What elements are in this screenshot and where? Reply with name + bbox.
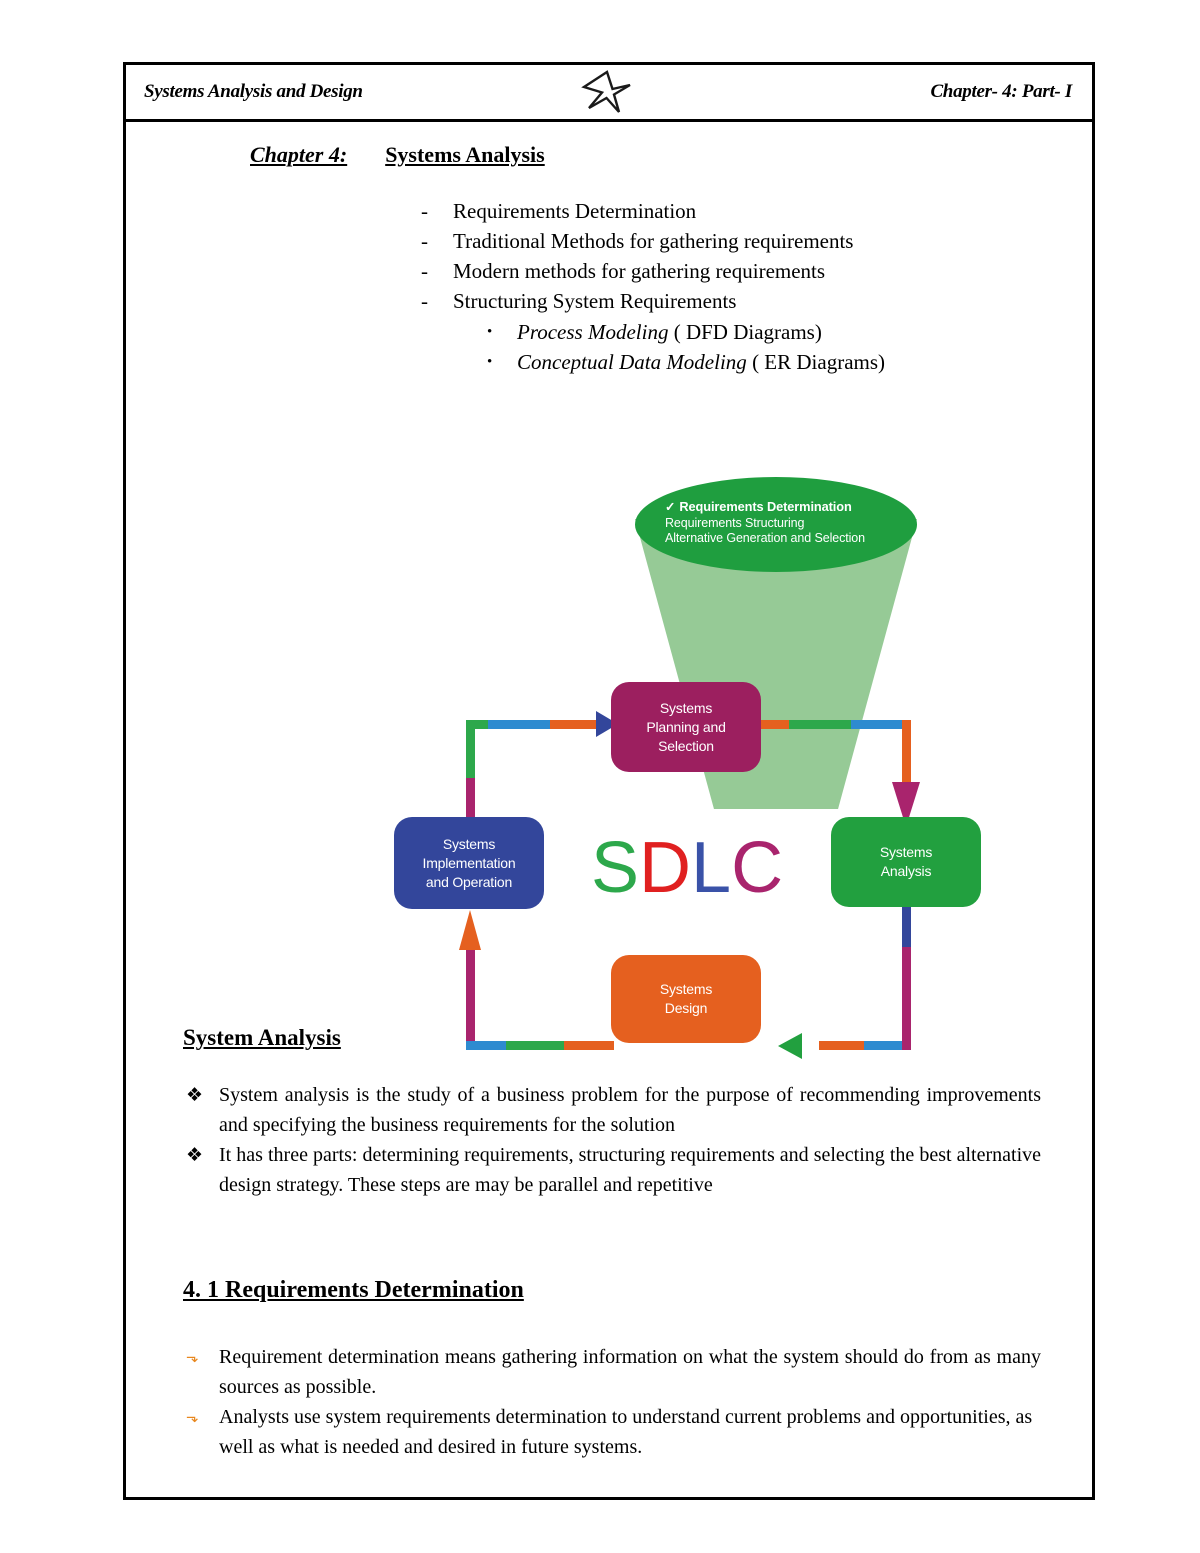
topic-label: Modern methods for gathering requirement… [453, 256, 825, 286]
chapter-label: Chapter 4: [250, 142, 347, 167]
diamond-bullet-icon: ❖ [186, 1140, 219, 1200]
arrow-bullet-icon: ⬎ [186, 1342, 219, 1402]
list-item: - Modern methods for gathering requireme… [421, 256, 1021, 286]
connector-segment [466, 778, 475, 820]
subtopic-italic: Process Modeling [517, 320, 668, 344]
list-item: • Process Modeling ( DFD Diagrams) [487, 317, 1021, 347]
node-systems-planning-and-selection[interactable]: SystemsPlanning andSelection [611, 682, 761, 772]
arrow-bullet-icon: ⬎ [186, 1402, 219, 1462]
list-item-text: Requirement determination means gatherin… [219, 1342, 1041, 1402]
connector-segment [564, 1041, 614, 1050]
list-item: ❖ System analysis is the study of a busi… [186, 1080, 1041, 1140]
list-item-text: Analysts use system requirements determi… [219, 1402, 1041, 1462]
funnel-label-group: ✓Requirements Determination Requirements… [665, 499, 925, 547]
dash-marker: - [421, 286, 453, 316]
connector-segment [819, 1041, 864, 1050]
sdlc-letter-c: C [731, 828, 783, 908]
sdlc-diagram: ✓Requirements Determination Requirements… [266, 477, 956, 997]
section-heading-requirements-determination: 4. 1 Requirements Determination [183, 1277, 524, 1304]
diamond-bullet-icon: ❖ [186, 1080, 219, 1140]
connector-segment [902, 905, 911, 947]
dash-marker: - [421, 226, 453, 256]
list-item-text: It has three parts: determining requirem… [219, 1140, 1041, 1200]
sdlc-letter-d: D [639, 828, 691, 908]
chapter-heading: Chapter 4: Systems Analysis [250, 142, 545, 168]
list-item: ⬎ Analysts use system requirements deter… [186, 1402, 1041, 1462]
node-label: SystemsAnalysis [880, 843, 932, 881]
list-item: ⬎ Requirement determination means gather… [186, 1342, 1041, 1402]
list-item: - Requirements Determination [421, 196, 1021, 226]
connector-segment [488, 720, 550, 729]
bullet-marker: • [487, 317, 517, 347]
header-left-text: Systems Analysis and Design [144, 81, 363, 103]
node-label: SystemsImplementationand Operation [423, 835, 516, 892]
funnel-line-3: Alternative Generation and Selection [665, 531, 925, 547]
subtopic-rest: ( ER Diagrams) [747, 350, 885, 374]
four-point-star-icon [581, 69, 633, 120]
connector-segment [902, 720, 911, 787]
connector-segment [902, 947, 911, 1050]
header-right-text: Chapter- 4: Part- I [930, 81, 1072, 103]
connector-segment [466, 945, 475, 1050]
sdlc-logo: SDLC [591, 827, 783, 909]
funnel-line-1: ✓Requirements Determination [665, 499, 925, 516]
topic-label: Requirements Determination [453, 196, 696, 226]
topic-label: Traditional Methods for gathering requir… [453, 226, 853, 256]
section-body-system-analysis: ❖ System analysis is the study of a busi… [186, 1080, 1041, 1200]
node-systems-analysis[interactable]: SystemsAnalysis [831, 817, 981, 907]
chapter-title: Systems Analysis [385, 142, 545, 167]
page-frame: Systems Analysis and Design Chapter- 4: … [123, 62, 1095, 1500]
node-systems-design[interactable]: SystemsDesign [611, 955, 761, 1043]
node-label: SystemsPlanning andSelection [646, 699, 725, 756]
arrow-head-to-implementation [459, 910, 481, 950]
connector-segment [789, 720, 851, 729]
dash-marker: - [421, 256, 453, 286]
node-label: SystemsDesign [660, 980, 712, 1018]
subtopic-italic: Conceptual Data Modeling [517, 350, 747, 374]
sdlc-letter-s: S [591, 828, 639, 908]
list-item: - Traditional Methods for gathering requ… [421, 226, 1021, 256]
node-systems-implementation-and-operation[interactable]: SystemsImplementationand Operation [394, 817, 544, 909]
section-heading-system-analysis: System Analysis [183, 1025, 341, 1051]
arrow-head-to-design [778, 1033, 802, 1059]
connector-segment [506, 1041, 564, 1050]
connector-segment [466, 720, 475, 778]
page-header: Systems Analysis and Design Chapter- 4: … [126, 65, 1092, 122]
connector-segment [466, 1041, 506, 1050]
topic-label: Structuring System Requirements [453, 286, 736, 316]
connector-segment [550, 720, 600, 729]
list-item: - Structuring System Requirements [421, 286, 1021, 316]
list-item: ❖ It has three parts: determining requir… [186, 1140, 1041, 1200]
bullet-marker: • [487, 347, 517, 377]
connector-segment [759, 720, 789, 729]
list-item-text: System analysis is the study of a busine… [219, 1080, 1041, 1140]
sdlc-letter-l: L [691, 828, 731, 908]
dash-marker: - [421, 196, 453, 226]
funnel-line-2: Requirements Structuring [665, 516, 925, 532]
list-item: • Conceptual Data Modeling ( ER Diagrams… [487, 347, 1021, 377]
section-body-requirements-determination: ⬎ Requirement determination means gather… [186, 1342, 1041, 1462]
subtopic-rest: ( DFD Diagrams) [668, 320, 821, 344]
document-page: Systems Analysis and Design Chapter- 4: … [0, 0, 1200, 1553]
check-icon: ✓ [665, 500, 675, 514]
chapter-subtopic-list: • Process Modeling ( DFD Diagrams) • Con… [487, 317, 1021, 377]
chapter-topic-list: - Requirements Determination - Tradition… [421, 196, 1021, 377]
